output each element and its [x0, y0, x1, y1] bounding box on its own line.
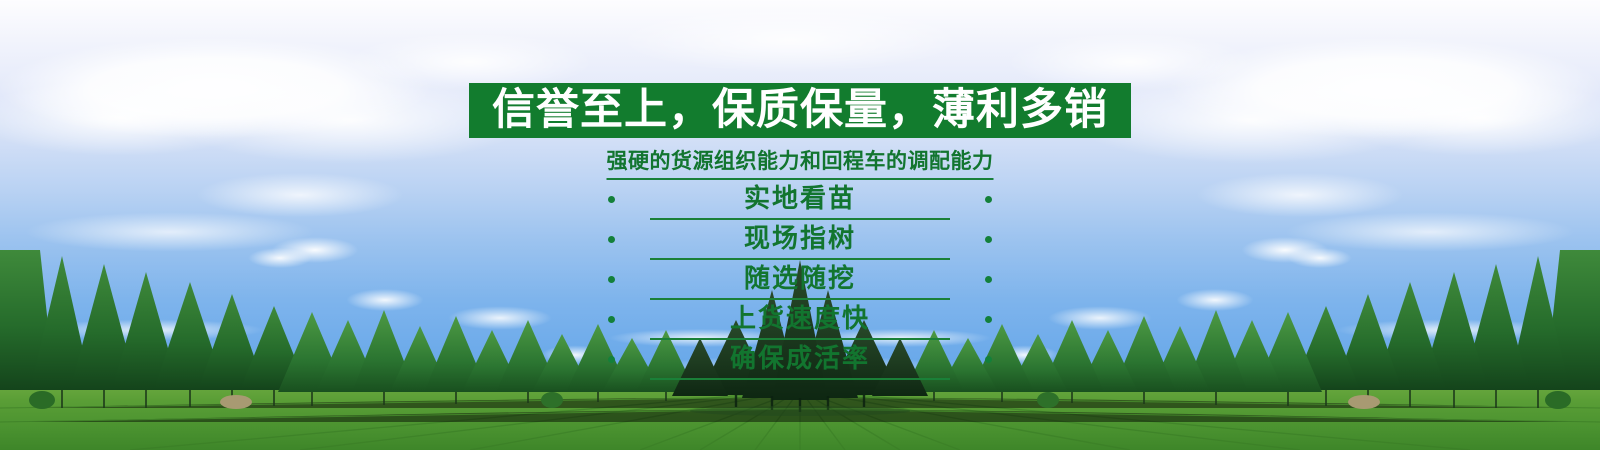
dot-bullet-left-icon — [608, 196, 615, 203]
feature-label-5: 确保成活率 — [730, 346, 870, 372]
headline-title: 信誉至上，保质保量，薄利多销 — [492, 89, 1108, 132]
dot-bullet-left-icon — [608, 356, 615, 363]
feature-item-4: 上货速度快 — [650, 300, 950, 340]
dot-bullet-right-icon — [985, 196, 992, 203]
feature-label-1: 实地看苗 — [744, 186, 856, 212]
feature-label-3: 随选随挖 — [744, 266, 856, 292]
feature-item-2: 现场指树 — [650, 220, 950, 260]
dot-bullet-right-icon — [985, 236, 992, 243]
feature-item-3: 随选随挖 — [650, 260, 950, 300]
headline-banner-bar: 信誉至上，保质保量，薄利多销 — [469, 83, 1131, 138]
dot-bullet-left-icon — [608, 236, 615, 243]
feature-label-4: 上货速度快 — [730, 306, 870, 332]
banner-subtitle: 强硬的货源组织能力和回程车的调配能力 — [607, 145, 994, 180]
dot-bullet-left-icon — [608, 276, 615, 283]
feature-list: 实地看苗 现场指树 随选随挖 上货速度快 确保成活率 — [650, 180, 950, 380]
dot-bullet-right-icon — [985, 316, 992, 323]
feature-item-5: 确保成活率 — [650, 340, 950, 380]
banner-content: 信誉至上，保质保量，薄利多销 强硬的货源组织能力和回程车的调配能力 实地看苗 现… — [0, 0, 1600, 450]
feature-label-2: 现场指树 — [744, 226, 856, 252]
dot-bullet-right-icon — [985, 356, 992, 363]
dot-bullet-left-icon — [608, 316, 615, 323]
dot-bullet-right-icon — [985, 276, 992, 283]
feature-item-1: 实地看苗 — [650, 180, 950, 220]
promo-banner: 信誉至上，保质保量，薄利多销 强硬的货源组织能力和回程车的调配能力 实地看苗 现… — [0, 0, 1600, 450]
